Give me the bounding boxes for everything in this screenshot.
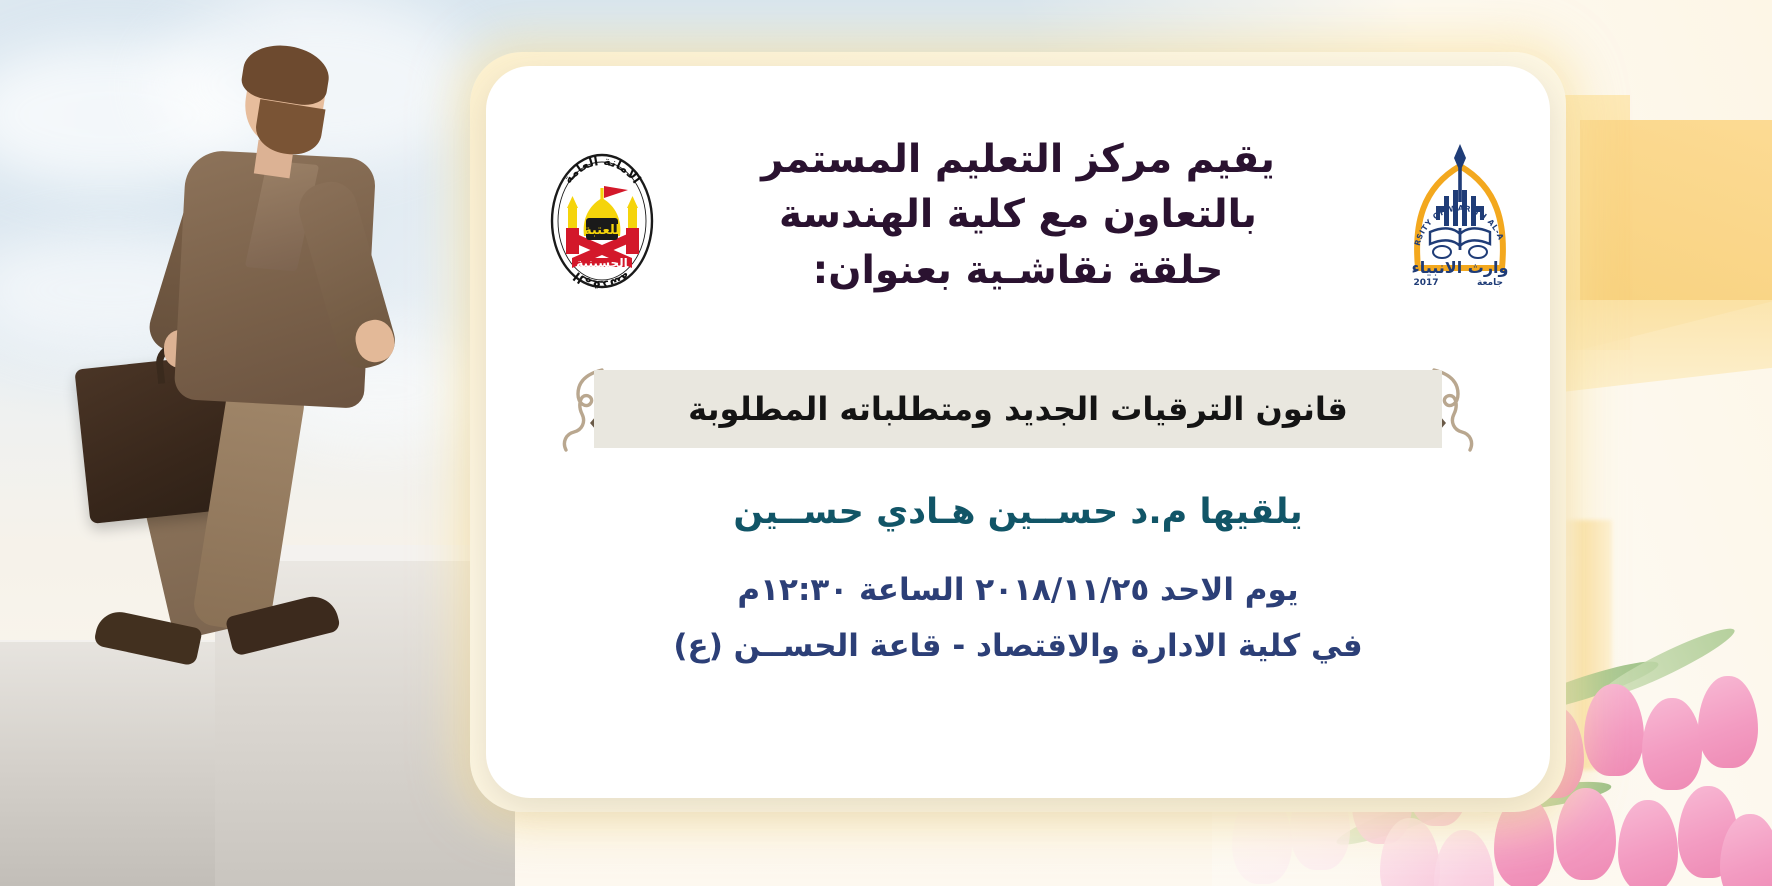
svg-text:وارث الانبياء: وارث الانبياء xyxy=(1412,258,1509,277)
venue-line: في كلية الادارة والاقتصاد - قاعة الحســن… xyxy=(516,628,1520,664)
banner-background: قانون الترقيات الجديد ومتطلباته المطلوبة xyxy=(594,370,1442,448)
svg-text:جامعة: جامعة xyxy=(1477,278,1503,288)
organizer-line-3: حلقة نقاشـية بعنوان: xyxy=(666,243,1370,298)
datetime-line: يوم الاحد ٢٠١٨/١١/٢٥ الساعة ١٢:٣٠م xyxy=(516,572,1520,608)
shrine-logo: الامانة العامة المقدسة xyxy=(542,146,662,296)
poster-canvas: الامانة العامة المقدسة xyxy=(0,0,1772,886)
svg-text:2017: 2017 xyxy=(1413,278,1438,288)
header-row: الامانة العامة المقدسة xyxy=(516,132,1520,322)
organizer-headline: يقيم مركز التعليم المستمر بالتعاون مع كل… xyxy=(666,132,1370,298)
svg-text:الحسينية: الحسينية xyxy=(576,256,627,270)
organizer-line-2: بالتعاون مع كلية الهندسة xyxy=(666,187,1370,242)
university-logo: UNIVERSITY OF WARITH AL-ANBIYAA وارث الا… xyxy=(1400,140,1520,290)
businessman-figure xyxy=(60,30,480,690)
organizer-line-1: يقيم مركز التعليم المستمر xyxy=(666,132,1370,187)
svg-text:للعتبة: للعتبة xyxy=(584,223,620,238)
seminar-title-banner: قانون الترقيات الجديد ومتطلباته المطلوبة xyxy=(556,362,1480,458)
seminar-title-text: قانون الترقيات الجديد ومتطلباته المطلوبة xyxy=(688,390,1348,428)
speaker-line: يلقيها م.د حســين هـادي حســين xyxy=(516,492,1520,532)
svg-text:المقدسة: المقدسة xyxy=(570,269,633,293)
svg-text:الامانة العامة: الامانة العامة xyxy=(560,153,644,186)
